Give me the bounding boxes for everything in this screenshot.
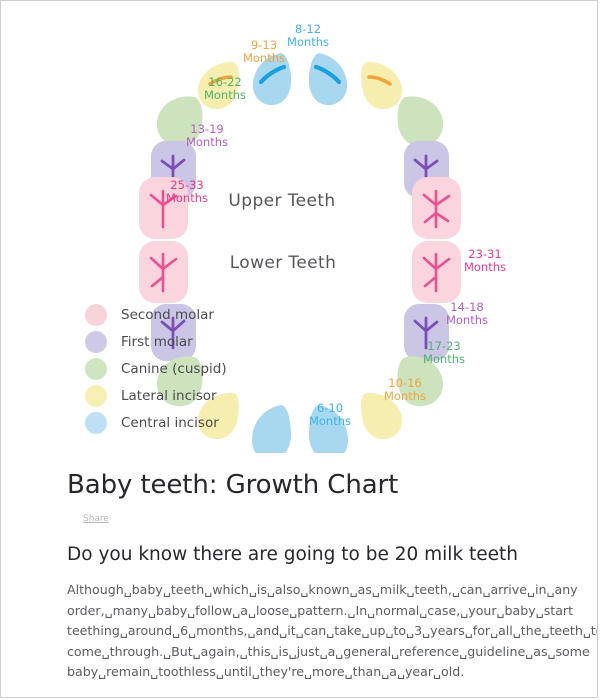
age-unit: Months (166, 192, 208, 205)
page-container: Upper Teeth Lower Teeth 8-12 Months 9-13… (0, 0, 598, 698)
legend-swatch-icon (85, 358, 107, 380)
age-label-upper-second-molar: 25-33 Months (166, 179, 208, 205)
age-label-lower-first-molar: 14-18 Months (446, 301, 488, 327)
baby-teeth-chart: Upper Teeth Lower Teeth 8-12 Months 9-13… (1, 1, 598, 453)
age-unit: Months (186, 136, 228, 149)
article-section: Baby teeth: Growth Chart Share Do you kn… (1, 453, 598, 683)
upper-teeth-label: Upper Teeth (228, 191, 335, 211)
tooth-lower-second-molar-left (412, 241, 461, 303)
legend-item-second-molar: Second molar (85, 301, 285, 328)
age-label-lower-central-incisor: 6-10 Months (309, 402, 351, 428)
share-link[interactable]: Share (83, 514, 109, 524)
legend-label: First molar (121, 334, 193, 350)
age-label-lower-canine: 17-23 Months (423, 340, 465, 366)
page-title: Baby teeth: Growth Chart (67, 470, 598, 500)
legend-swatch-icon (85, 304, 107, 326)
age-unit: Months (309, 415, 351, 428)
legend-item-lateral-incisor: Lateral incisor (85, 382, 285, 409)
legend-swatch-icon (85, 385, 107, 407)
legend-item-central-incisor: Central incisor (85, 409, 285, 436)
age-unit: Months (243, 52, 285, 65)
age-label-upper-first-molar: 13-19 Months (186, 123, 228, 149)
legend-label: Canine (cuspid) (121, 361, 227, 377)
age-label-lower-second-molar: 23-31 Months (464, 248, 506, 274)
tooth-lower-second-molar-right (139, 241, 188, 303)
age-unit: Months (446, 314, 488, 327)
legend-swatch-icon (85, 331, 107, 353)
age-unit: Months (287, 36, 329, 49)
age-unit: Months (423, 353, 465, 366)
age-unit: Months (204, 89, 246, 102)
chart-legend: Second molar First molar Canine (cuspid)… (85, 301, 285, 436)
legend-label: Lateral incisor (121, 388, 217, 404)
age-label-upper-canine: 16-22 Months (204, 76, 246, 102)
legend-swatch-icon (85, 412, 107, 434)
age-label-upper-lateral-incisor: 9-13 Months (243, 39, 285, 65)
age-unit: Months (384, 390, 426, 403)
legend-label: Second molar (121, 307, 214, 323)
tooth-upper-central-incisor-left (309, 53, 347, 105)
tooth-upper-second-molar-left (412, 177, 461, 239)
section-heading: Do you know there are going to be 20 mil… (67, 544, 598, 565)
legend-item-canine: Canine (cuspid) (85, 355, 285, 382)
age-unit: Months (464, 261, 506, 274)
tooth-upper-lateral-incisor-left (361, 62, 402, 109)
article-body-text: Although␣baby␣teeth␣which␣is␣also␣known␣… (67, 580, 598, 683)
age-label-lower-lateral-incisor: 10-16 Months (384, 377, 426, 403)
legend-label: Central incisor (121, 415, 219, 431)
age-label-upper-central-incisor: 8-12 Months (287, 23, 329, 49)
legend-item-first-molar: First molar (85, 328, 285, 355)
lower-teeth-label: Lower Teeth (230, 253, 337, 273)
tooth-upper-canine-left (397, 96, 443, 146)
